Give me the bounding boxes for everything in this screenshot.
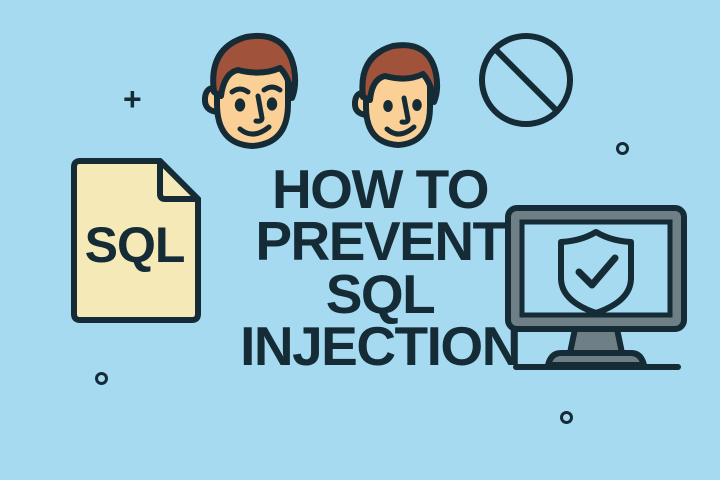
no-entry-icon (477, 31, 575, 129)
headline-line-3: SQL (232, 268, 528, 320)
headline-line-4: INJECTION (232, 320, 528, 372)
desktop-monitor-icon (503, 203, 689, 379)
headline-line-1: HOW TO (232, 163, 528, 215)
eye-right (267, 97, 277, 110)
avatar-face-left (196, 26, 308, 154)
face-left-shape (196, 26, 308, 154)
avatar-face-right (347, 35, 447, 153)
poster-canvas: + SQL (0, 0, 720, 480)
sql-document-icon: SQL (68, 158, 201, 323)
ring-dot-icon-upper-right (616, 142, 629, 155)
eyebrow-left (232, 89, 248, 92)
ring-dot-icon-lower-left (95, 372, 108, 385)
plus-mark-icon: + (123, 83, 142, 115)
headline-line-2: PREVENT (232, 215, 528, 267)
no-entry-shape (477, 31, 575, 129)
monitor-neck (570, 329, 622, 353)
monitor-shape (503, 203, 689, 379)
document-label: SQL (68, 216, 201, 274)
face-right-shape (347, 35, 447, 153)
page-title: HOW TO PREVENT SQL INJECTION (232, 163, 528, 372)
ring-dot-icon-lower-right (560, 411, 573, 424)
monitor-base (548, 353, 644, 365)
eye-left (383, 100, 393, 112)
eyebrow-right (264, 87, 280, 90)
shield-check-icon (561, 232, 631, 313)
no-entry-slash (496, 50, 556, 110)
eye-right (412, 99, 422, 111)
eye-left (235, 98, 245, 111)
